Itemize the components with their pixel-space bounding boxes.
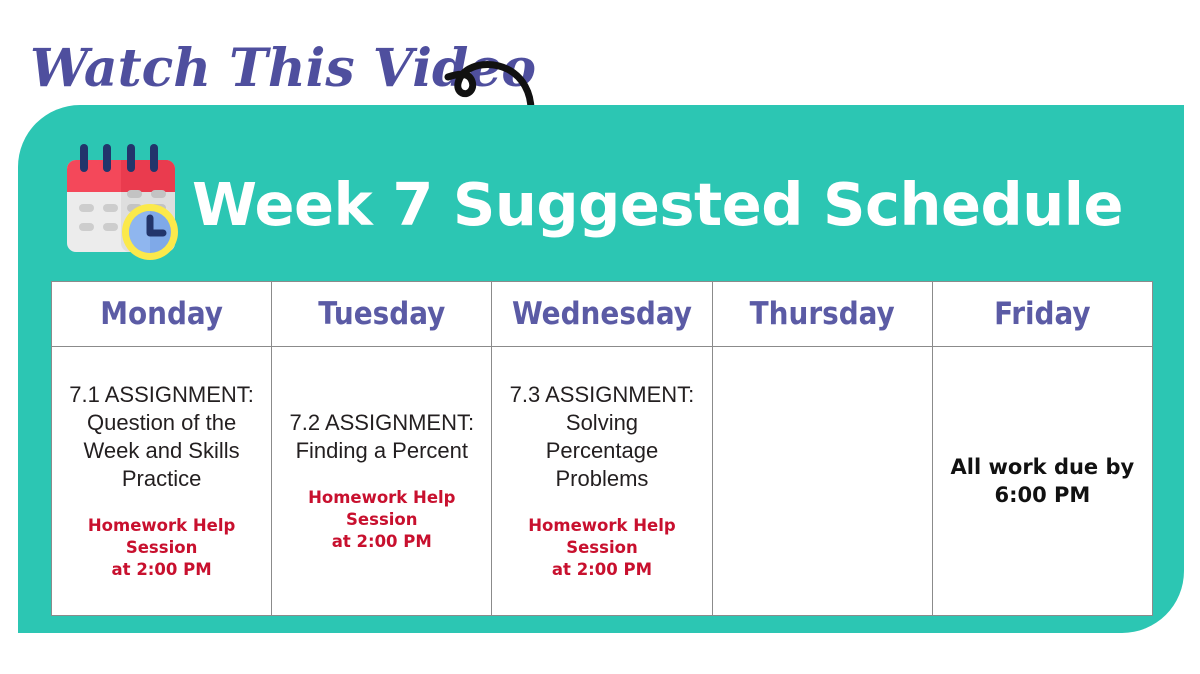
calendar-clock-icon bbox=[51, 138, 191, 268]
helper-session-tuesday: Homework Help Session at 2:00 PM bbox=[284, 487, 479, 552]
page-title: Week 7 Suggested Schedule bbox=[191, 175, 1154, 234]
column-header-wednesday: Wednesday bbox=[492, 282, 712, 347]
weekly-schedule-table: Monday Tuesday Wednesday Thursday Friday… bbox=[51, 281, 1153, 616]
cell-monday: 7.1 ASSIGNMENT: Question of the Week and… bbox=[52, 347, 272, 616]
assignment-text-wednesday: 7.3 ASSIGNMENT: Solving Percentage Probl… bbox=[510, 381, 695, 493]
due-notice-friday: All work due by 6:00 PM bbox=[951, 453, 1135, 510]
helper-session-monday: Homework Help Session at 2:00 PM bbox=[64, 515, 259, 580]
cell-thursday bbox=[712, 347, 932, 616]
cell-friday: All work due by 6:00 PM bbox=[932, 347, 1152, 616]
cell-tuesday: 7.2 ASSIGNMENT: Finding a Percent Homewo… bbox=[272, 347, 492, 616]
table-header-row: Monday Tuesday Wednesday Thursday Friday bbox=[52, 282, 1153, 347]
column-header-monday: Monday bbox=[52, 282, 272, 347]
column-header-tuesday: Tuesday bbox=[272, 282, 492, 347]
panel-header: Week 7 Suggested Schedule bbox=[51, 133, 1154, 273]
watch-this-video-note: Watch This Video bbox=[30, 36, 460, 102]
helper-session-wednesday: Homework Help Session at 2:00 PM bbox=[504, 515, 699, 580]
assignment-text-monday: 7.1 ASSIGNMENT: Question of the Week and… bbox=[69, 381, 254, 493]
column-header-thursday: Thursday bbox=[712, 282, 932, 347]
cell-wednesday: 7.3 ASSIGNMENT: Solving Percentage Probl… bbox=[492, 347, 712, 616]
schedule-panel: Week 7 Suggested Schedule Monday Tuesday… bbox=[18, 105, 1184, 633]
table-row: 7.1 ASSIGNMENT: Question of the Week and… bbox=[52, 347, 1153, 616]
column-header-friday: Friday bbox=[932, 282, 1152, 347]
assignment-text-tuesday: 7.2 ASSIGNMENT: Finding a Percent bbox=[289, 409, 474, 465]
